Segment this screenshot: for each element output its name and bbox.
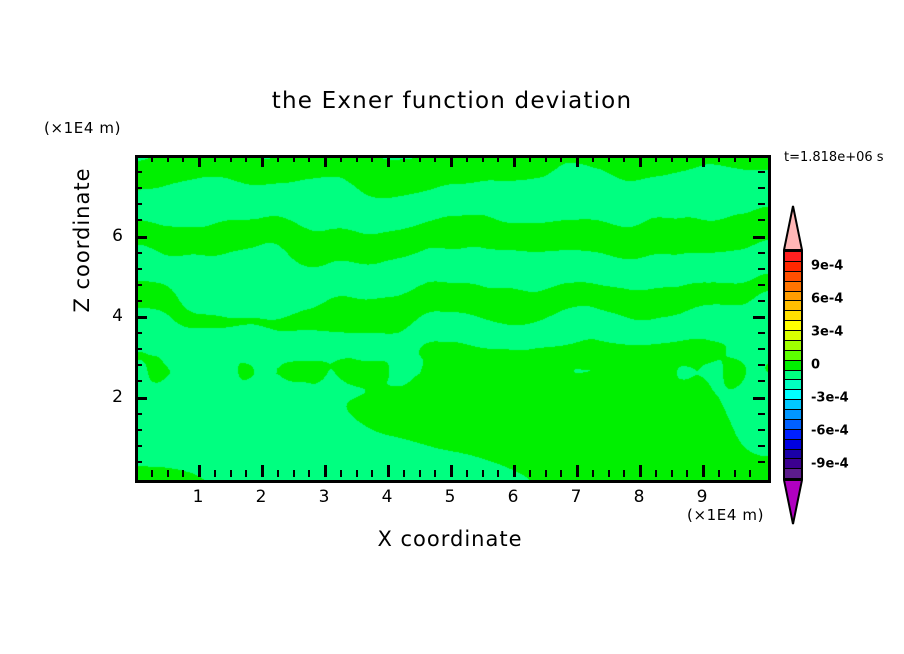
y-tick-right <box>758 219 765 221</box>
colorbar-band <box>785 420 801 430</box>
y-tick-left <box>135 268 142 270</box>
colorbar-band <box>785 331 801 341</box>
colorbar-tick-label: -3e-4 <box>811 390 849 405</box>
x-tick-bottom <box>592 470 594 477</box>
x-tick-bottom <box>608 470 610 477</box>
colorbar-over-arrow-icon <box>783 205 803 251</box>
x-tick-label: 2 <box>256 487 267 507</box>
x-tick-bottom <box>371 470 373 477</box>
x-tick-bottom <box>340 470 342 477</box>
x-tick-bottom <box>639 465 642 477</box>
x-tick-bottom <box>734 470 736 477</box>
y-tick-left <box>135 252 142 254</box>
colorbar-band <box>785 400 801 410</box>
x-tick-bottom <box>151 470 153 477</box>
x-axis-title: X coordinate <box>135 527 765 551</box>
y-tick-left <box>135 380 142 382</box>
chart-title: the Exner function deviation <box>0 88 904 114</box>
colorbar-band <box>785 351 801 361</box>
x-tick-top <box>230 155 232 162</box>
x-tick-bottom <box>655 470 657 477</box>
x-tick-top <box>749 155 751 162</box>
x-tick-label: 6 <box>508 487 519 507</box>
x-tick-top <box>434 155 436 162</box>
y-tick-right <box>758 380 765 382</box>
y-tick-left <box>135 316 147 319</box>
x-tick-top <box>450 155 453 167</box>
y-tick-label: 4 <box>93 306 123 326</box>
y-tick-left <box>135 187 142 189</box>
x-tick-bottom <box>749 470 751 477</box>
y-tick-right <box>758 348 765 350</box>
y-tick-right <box>758 284 765 286</box>
x-tick-bottom <box>214 470 216 477</box>
y-tick-left <box>135 364 142 366</box>
x-tick-bottom <box>198 465 201 477</box>
x-tick-top <box>356 155 358 162</box>
y-tick-right <box>758 364 765 366</box>
x-tick-top <box>466 155 468 162</box>
colorbar-tick-label: -9e-4 <box>811 456 849 471</box>
x-tick-bottom <box>293 470 295 477</box>
x-tick-top <box>702 155 705 167</box>
x-tick-top <box>734 155 736 162</box>
y-axis-title: Z coordinate <box>70 140 94 340</box>
colorbar-tick-label: 6e-4 <box>811 292 843 307</box>
y-tick-left <box>135 284 142 286</box>
y-tick-left <box>135 413 142 415</box>
colorbar-band <box>785 459 801 469</box>
y-tick-right <box>758 461 765 463</box>
x-tick-top <box>151 155 153 162</box>
colorbar-band <box>785 371 801 381</box>
x-tick-top <box>497 155 499 162</box>
x-tick-bottom <box>560 470 562 477</box>
colorbar-band <box>785 380 801 390</box>
x-tick-top <box>592 155 594 162</box>
colorbar-under-arrow-icon <box>783 479 803 525</box>
colorbar-band <box>785 321 801 331</box>
x-tick-bottom <box>434 470 436 477</box>
x-tick-top <box>245 155 247 162</box>
colorbar-tick-label: 0 <box>811 358 820 373</box>
x-tick-top <box>513 155 516 167</box>
y-tick-right <box>758 445 765 447</box>
x-tick-top <box>482 155 484 162</box>
y-tick-right <box>758 413 765 415</box>
x-tick-bottom <box>466 470 468 477</box>
y-tick-left <box>135 332 142 334</box>
y-tick-left <box>135 171 142 173</box>
x-tick-top <box>419 155 421 162</box>
colorbar-band <box>785 469 801 478</box>
y-tick-left <box>135 397 147 400</box>
x-tick-bottom <box>245 470 247 477</box>
x-tick-bottom <box>718 470 720 477</box>
timestamp-label: t=1.818e+06 s <box>784 150 884 165</box>
x-tick-top <box>718 155 720 162</box>
colorbar-band <box>785 252 801 262</box>
x-tick-top <box>639 155 642 167</box>
colorbar-band <box>785 272 801 282</box>
x-tick-bottom <box>623 470 625 477</box>
x-tick-top <box>686 155 688 162</box>
colorbar-band <box>785 292 801 302</box>
y-tick-label: 6 <box>93 226 123 246</box>
y-tick-left <box>135 445 142 447</box>
x-tick-top <box>576 155 579 167</box>
colorbar <box>783 205 803 525</box>
y-tick-right <box>758 203 765 205</box>
x-tick-top <box>308 155 310 162</box>
x-tick-bottom <box>545 470 547 477</box>
x-tick-bottom <box>686 470 688 477</box>
y-axis-unit-label: (×1E4 m) <box>44 119 121 137</box>
x-tick-label: 8 <box>634 487 645 507</box>
y-tick-right <box>758 332 765 334</box>
y-tick-left <box>135 429 142 431</box>
contour-field <box>138 158 768 480</box>
x-tick-bottom <box>261 465 264 477</box>
x-tick-bottom <box>513 465 516 477</box>
x-tick-label: 7 <box>571 487 582 507</box>
x-tick-top <box>545 155 547 162</box>
y-tick-right <box>758 268 765 270</box>
y-tick-left <box>135 300 142 302</box>
colorbar-tick-label: -6e-4 <box>811 423 849 438</box>
x-tick-top <box>403 155 405 162</box>
x-tick-top <box>293 155 295 162</box>
x-tick-top <box>277 155 279 162</box>
y-tick-right <box>758 429 765 431</box>
y-tick-right <box>758 187 765 189</box>
x-tick-label: 9 <box>697 487 708 507</box>
y-tick-right <box>758 171 765 173</box>
y-tick-left <box>135 219 142 221</box>
colorbar-band <box>785 262 801 272</box>
x-tick-label: 4 <box>382 487 393 507</box>
x-tick-top <box>560 155 562 162</box>
x-tick-bottom <box>702 465 705 477</box>
x-tick-top <box>529 155 531 162</box>
x-tick-label: 5 <box>445 487 456 507</box>
x-tick-label: 3 <box>319 487 330 507</box>
x-tick-top <box>371 155 373 162</box>
x-tick-bottom <box>167 470 169 477</box>
y-tick-right <box>753 397 765 400</box>
x-tick-top <box>198 155 201 167</box>
x-tick-bottom <box>324 465 327 477</box>
x-tick-top <box>340 155 342 162</box>
x-tick-bottom <box>403 470 405 477</box>
x-tick-top <box>261 155 264 167</box>
colorbar-band <box>785 390 801 400</box>
x-tick-bottom <box>497 470 499 477</box>
x-tick-bottom <box>576 465 579 477</box>
x-tick-top <box>167 155 169 162</box>
contour-plot-area <box>135 155 771 483</box>
y-tick-right <box>758 252 765 254</box>
x-tick-top <box>623 155 625 162</box>
x-tick-bottom <box>356 470 358 477</box>
x-tick-top <box>324 155 327 167</box>
x-tick-bottom <box>182 470 184 477</box>
x-tick-top <box>671 155 673 162</box>
colorbar-band <box>785 311 801 321</box>
colorbar-band <box>785 410 801 420</box>
colorbar-tick-label: 9e-4 <box>811 259 843 274</box>
colorbar-band <box>785 450 801 460</box>
y-tick-left <box>135 203 142 205</box>
x-tick-bottom <box>387 465 390 477</box>
x-tick-bottom <box>482 470 484 477</box>
y-tick-right <box>753 316 765 319</box>
colorbar-band <box>785 301 801 311</box>
y-tick-label: 2 <box>93 387 123 407</box>
colorbar-bands <box>783 250 803 480</box>
x-tick-top <box>655 155 657 162</box>
colorbar-band <box>785 282 801 292</box>
x-tick-bottom <box>529 470 531 477</box>
x-axis-unit-label: (×1E4 m) <box>687 506 764 524</box>
x-tick-top <box>214 155 216 162</box>
x-tick-top <box>608 155 610 162</box>
x-tick-bottom <box>277 470 279 477</box>
x-tick-bottom <box>419 470 421 477</box>
x-tick-label: 1 <box>193 487 204 507</box>
colorbar-band <box>785 341 801 351</box>
y-tick-left <box>135 236 147 239</box>
x-tick-top <box>182 155 184 162</box>
colorbar-band <box>785 430 801 440</box>
y-tick-right <box>758 300 765 302</box>
x-tick-bottom <box>671 470 673 477</box>
colorbar-band <box>785 361 801 371</box>
colorbar-tick-label: 3e-4 <box>811 325 843 340</box>
y-tick-left <box>135 461 142 463</box>
y-tick-right <box>753 236 765 239</box>
x-tick-bottom <box>230 470 232 477</box>
x-tick-top <box>387 155 390 167</box>
y-tick-left <box>135 348 142 350</box>
colorbar-band <box>785 440 801 450</box>
figure-canvas: the Exner function deviation (×1E4 m) (×… <box>0 0 904 654</box>
x-tick-bottom <box>450 465 453 477</box>
x-tick-bottom <box>308 470 310 477</box>
